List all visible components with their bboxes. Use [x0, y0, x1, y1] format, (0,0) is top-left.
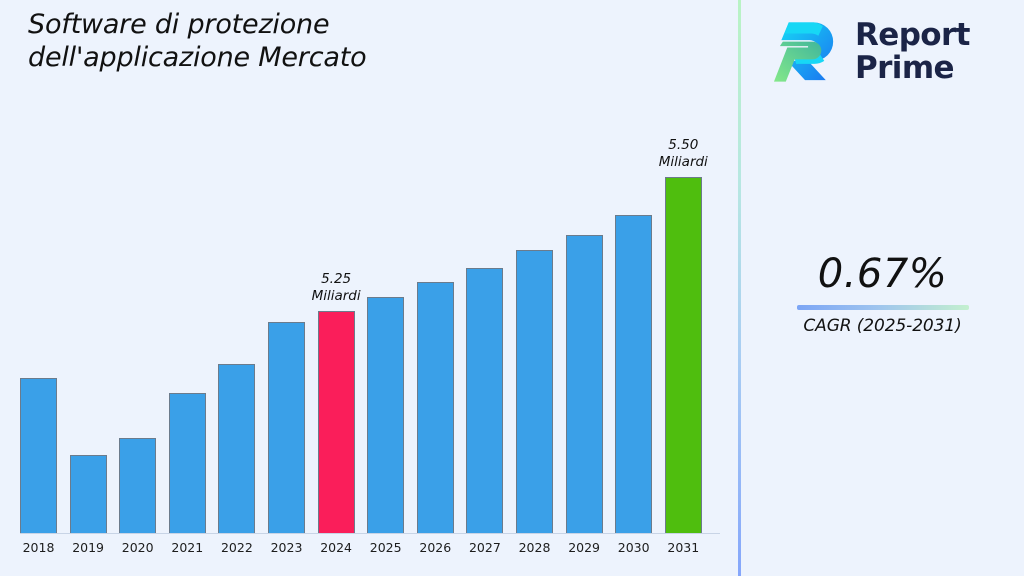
cagr-divider-rule: [797, 305, 969, 310]
bar-2023: [268, 322, 305, 533]
bar-2021: [169, 393, 206, 533]
bar-2018: [20, 378, 57, 533]
report-prime-logo-mark: [771, 15, 845, 89]
bar-2022: [218, 364, 255, 533]
bar-2019: [70, 455, 107, 533]
plot-area: 5.25 Miliardi5.50 Miliardi 2018201920202…: [0, 0, 738, 576]
bar-2027: [466, 268, 503, 533]
bar-2020: [119, 438, 156, 533]
cagr-block: 0.67% CAGR (2025-2031): [741, 252, 1024, 336]
bar-2024: [318, 311, 355, 533]
bar-2025: [367, 297, 404, 533]
x-tick-2031: 2031: [653, 540, 713, 555]
bar-2031: [665, 177, 702, 533]
x-axis-line: [20, 533, 720, 534]
cagr-caption: CAGR (2025-2031): [741, 316, 1024, 336]
brand-name: Report Prime: [855, 19, 970, 85]
data-label-2031: 5.50 Miliardi: [633, 137, 733, 171]
bar-2029: [566, 235, 603, 533]
chart-panel: Software di protezione dell'applicazione…: [0, 0, 738, 576]
brand-panel: Report Prime 0.67% CAGR (2025-2031): [741, 0, 1024, 576]
brand-logo: Report Prime: [771, 10, 1001, 94]
chart-canvas: Software di protezione dell'applicazione…: [0, 0, 1024, 576]
cagr-value: 0.67%: [741, 252, 1024, 296]
bar-2028: [516, 250, 553, 533]
bar-2030: [615, 215, 652, 533]
bar-2026: [417, 282, 454, 533]
